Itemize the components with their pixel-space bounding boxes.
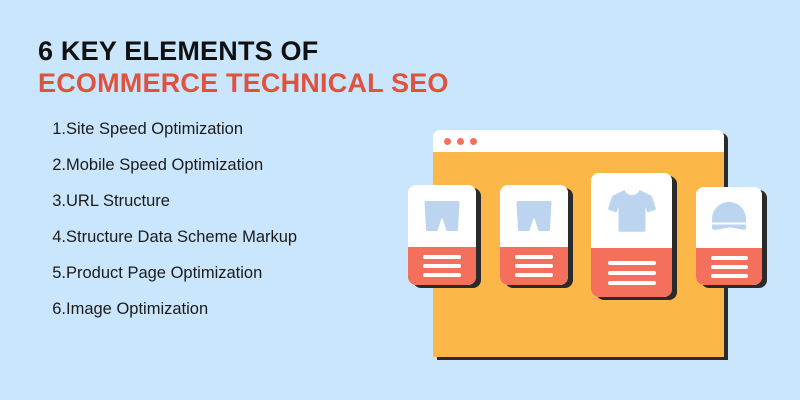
list-item-label: Site Speed Optimization	[66, 120, 243, 139]
list-item: 5. Product Page Optimization	[42, 264, 398, 300]
meta-line	[608, 261, 656, 265]
window-close-dot-icon	[444, 138, 451, 145]
meta-line	[515, 273, 553, 277]
ecommerce-illustration	[400, 118, 800, 368]
list-item: 4. Structure Data Scheme Markup	[42, 228, 398, 264]
list-item: 3. URL Structure	[42, 192, 398, 228]
meta-line	[423, 255, 461, 259]
product-meta-area	[408, 247, 476, 285]
meta-line	[515, 264, 553, 268]
meta-line	[423, 264, 461, 268]
list-item: 6. Image Optimization	[42, 300, 398, 336]
list-item-label: URL Structure	[66, 192, 170, 211]
list-item-number: 4.	[42, 228, 66, 247]
product-image-area	[591, 173, 672, 248]
window-maximize-dot-icon	[470, 138, 477, 145]
meta-line	[608, 281, 656, 285]
product-image-area	[408, 185, 476, 247]
product-image-area	[500, 185, 568, 247]
product-image-area	[696, 187, 762, 248]
text-column: 6 KEY ELEMENTS OF ECOMMERCE TECHNICAL SE…	[38, 36, 398, 100]
list-item-number: 2.	[42, 156, 66, 175]
meta-line	[711, 265, 748, 269]
meta-line	[711, 256, 748, 260]
elements-list: 1. Site Speed Optimization 2. Mobile Spe…	[42, 120, 398, 336]
list-item-number: 6.	[42, 300, 66, 319]
list-item: 1. Site Speed Optimization	[42, 120, 398, 156]
list-item: 2. Mobile Speed Optimization	[42, 156, 398, 192]
page-title-line-2: ECOMMERCE TECHNICAL SEO	[38, 68, 398, 100]
product-meta-area	[500, 247, 568, 285]
product-card-tshirt	[591, 173, 672, 297]
product-card-shorts-2	[500, 185, 568, 285]
list-item-label: Image Optimization	[66, 300, 208, 319]
window-minimize-dot-icon	[457, 138, 464, 145]
list-item-label: Structure Data Scheme Markup	[66, 228, 297, 247]
tshirt-icon	[605, 188, 659, 234]
meta-line	[608, 271, 656, 275]
cap-icon	[708, 200, 750, 236]
infographic-canvas: 6 KEY ELEMENTS OF ECOMMERCE TECHNICAL SE…	[0, 0, 800, 400]
meta-line	[711, 274, 748, 278]
list-item-label: Product Page Optimization	[66, 264, 262, 283]
list-item-number: 5.	[42, 264, 66, 283]
meta-line	[515, 255, 553, 259]
product-meta-area	[696, 248, 762, 285]
shorts-icon	[514, 199, 554, 233]
list-item-label: Mobile Speed Optimization	[66, 156, 263, 175]
browser-title-bar	[433, 130, 724, 152]
product-card-shorts-1	[408, 185, 476, 285]
product-card-cap	[696, 187, 762, 285]
list-item-number: 3.	[42, 192, 66, 211]
page-title-line-1: 6 KEY ELEMENTS OF	[38, 36, 398, 68]
list-item-number: 1.	[42, 120, 66, 139]
meta-line	[423, 273, 461, 277]
product-meta-area	[591, 248, 672, 297]
shorts-icon	[422, 199, 462, 233]
